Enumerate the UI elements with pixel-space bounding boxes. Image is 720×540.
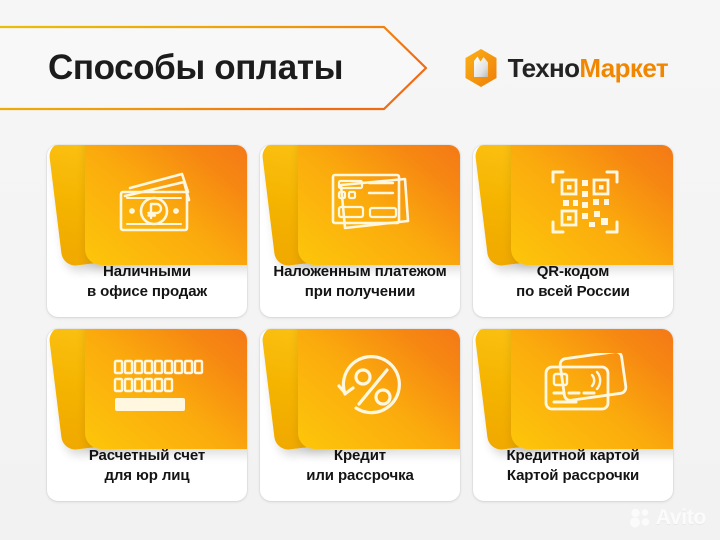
hexagon-logo-icon: [463, 48, 499, 88]
card-illustration: [260, 145, 460, 257]
card-label: Расчетный счет для юр лиц: [83, 446, 211, 486]
tile-front-layer: [298, 329, 460, 449]
card-label-line1: Наложенным платежом: [273, 263, 446, 280]
card-illustration: [473, 329, 673, 441]
card-label: Кредит или рассрочка: [300, 446, 420, 486]
card-label: QR-кодом по всей России: [510, 262, 636, 302]
account-number-icon: [113, 357, 205, 415]
card-illustration: [260, 329, 460, 441]
avito-watermark: Avito: [630, 506, 706, 530]
page-title: Способы оплаты: [48, 48, 343, 88]
tile-front-layer: [298, 145, 460, 265]
payment-card-credit[interactable]: Кредит или рассрочка: [260, 329, 460, 501]
card-label-line2: или рассрочка: [306, 466, 414, 486]
title-banner: Способы оплаты: [0, 25, 432, 111]
avito-watermark-label: Avito: [656, 506, 706, 530]
page-header: Способы оплаты: [0, 25, 690, 111]
card-illustration: [47, 329, 247, 441]
tile-front-layer: [85, 329, 247, 449]
card-illustration: [47, 145, 247, 257]
card-label-line2: для юр лиц: [89, 466, 205, 486]
card-label: Кредитной картой Картой рассрочки: [500, 446, 645, 486]
logo-text-accent: Маркет: [579, 53, 668, 83]
qr-code-icon: [549, 166, 621, 238]
card-label-line2: в офисе продаж: [87, 282, 207, 302]
banknotes-ruble-icon: [116, 170, 202, 234]
tile-front-layer: [511, 329, 673, 449]
card-label-line2: при получении: [273, 282, 446, 302]
payment-card-qr[interactable]: QR-кодом по всей России: [473, 145, 673, 317]
card-label: Наложенным платежом при получении: [267, 262, 452, 302]
card-label-line2: Картой рассрочки: [506, 466, 639, 486]
percent-refresh-icon: [336, 350, 408, 422]
card-label-line1: QR-кодом: [537, 263, 610, 280]
payment-card-cash[interactable]: Наличными в офисе продаж: [47, 145, 247, 317]
tile-front-layer: [511, 145, 673, 265]
card-label-line1: Расчетный счет: [89, 447, 205, 464]
brand-logo[interactable]: ТехноМаркет: [463, 48, 668, 88]
card-label-line1: Кредит: [334, 447, 386, 464]
card-label-line1: Наличными: [103, 263, 191, 280]
card-label-line1: Кредитной картой: [506, 447, 639, 464]
card-label: Наличными в офисе продаж: [81, 262, 213, 302]
tile-front-layer: [85, 145, 247, 265]
logo-text-dark: Техно: [508, 53, 580, 83]
invoice-document-icon: [329, 169, 415, 235]
payment-card-bank-account[interactable]: Расчетный счет для юр лиц: [47, 329, 247, 501]
avito-dots-icon: [630, 508, 652, 528]
credit-cards-contactless-icon: [542, 353, 628, 419]
card-illustration: [473, 145, 673, 257]
payment-methods-page: Способы оплаты: [0, 0, 720, 540]
payment-methods-grid: Наличными в офисе продаж: [47, 145, 673, 501]
logo-wordmark: ТехноМаркет: [508, 53, 668, 84]
payment-card-credit-card[interactable]: Кредитной картой Картой рассрочки: [473, 329, 673, 501]
payment-card-cash-on-delivery[interactable]: Наложенным платежом при получении: [260, 145, 460, 317]
card-label-line2: по всей России: [516, 282, 630, 302]
